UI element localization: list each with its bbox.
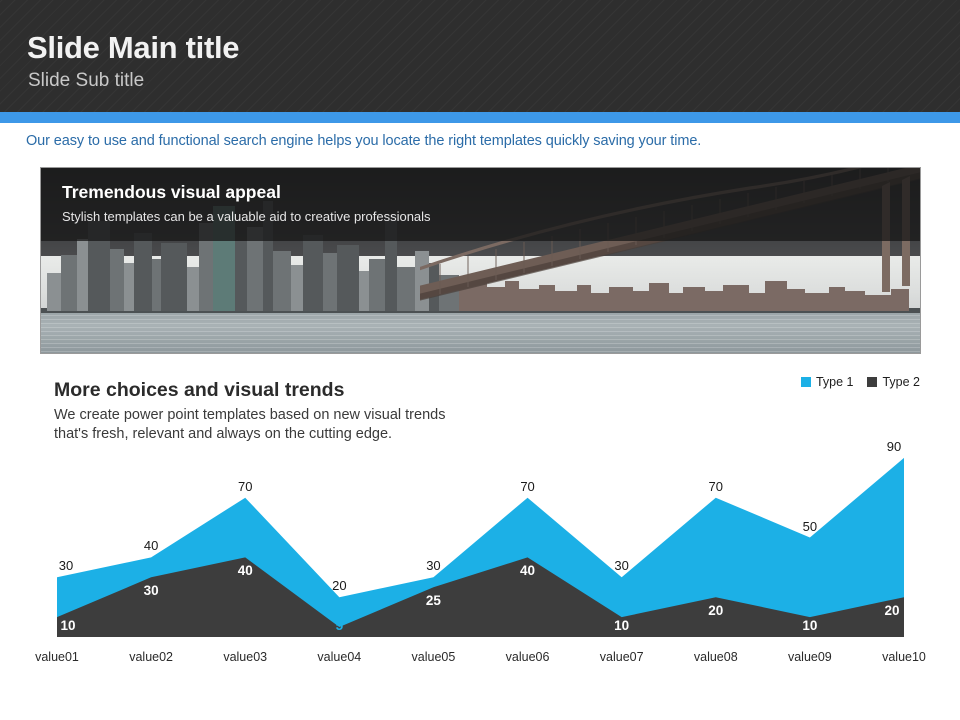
legend-item-type-1[interactable]: Type 1 bbox=[801, 375, 854, 389]
datalabel-type1-value03: 70 bbox=[238, 480, 252, 493]
x-axis-label-value03: value03 bbox=[223, 651, 267, 664]
datalabel-type2-value03: 40 bbox=[238, 564, 253, 578]
chart-title: More choices and visual trends bbox=[54, 381, 344, 401]
datalabel-type2-value05: 25 bbox=[426, 594, 441, 608]
legend-swatch-icon bbox=[867, 377, 877, 387]
x-axis-label-value07: value07 bbox=[600, 651, 644, 664]
slide-root: Slide Main title Slide Sub title Our eas… bbox=[0, 0, 960, 720]
accent-bar bbox=[0, 112, 960, 123]
x-axis-label-value02: value02 bbox=[129, 651, 173, 664]
x-axis-label-value01: value01 bbox=[35, 651, 79, 664]
datalabel-type1-value10: 90 bbox=[887, 440, 901, 453]
datalabel-type1-value04: 20 bbox=[332, 579, 346, 592]
x-axis-label-value05: value05 bbox=[412, 651, 456, 664]
datalabel-type2-value04: 5 bbox=[336, 619, 344, 633]
datalabel-type2-value08: 20 bbox=[708, 604, 723, 618]
photo-caption-subtitle: Stylish templates can be a valuable aid … bbox=[62, 210, 431, 223]
area-chart: 304070203070307050901030405254010201020v… bbox=[0, 420, 960, 680]
photo-caption-title: Tremendous visual appeal bbox=[62, 184, 281, 202]
chart-legend: Type 1Type 2 bbox=[801, 375, 920, 389]
datalabel-type1-value08: 70 bbox=[709, 480, 723, 493]
legend-label: Type 1 bbox=[816, 375, 854, 389]
x-axis-label-value10: value10 bbox=[882, 651, 926, 664]
photo-caption-overlay: Tremendous visual appeal Stylish templat… bbox=[41, 168, 921, 241]
page-subtitle: Slide Sub title bbox=[28, 71, 144, 90]
datalabel-type2-value10: 20 bbox=[884, 604, 899, 618]
x-axis-label-value04: value04 bbox=[317, 651, 361, 664]
legend-label: Type 2 bbox=[882, 375, 920, 389]
x-axis-label-value08: value08 bbox=[694, 651, 738, 664]
x-axis-label-value06: value06 bbox=[506, 651, 550, 664]
datalabel-type1-value02: 40 bbox=[144, 539, 158, 552]
datalabel-type2-value02: 30 bbox=[144, 584, 159, 598]
datalabel-type2-value06: 40 bbox=[520, 564, 535, 578]
datalabel-type1-value09: 50 bbox=[803, 520, 817, 533]
datalabel-type1-value07: 30 bbox=[614, 559, 628, 572]
legend-item-type-2[interactable]: Type 2 bbox=[867, 375, 920, 389]
datalabel-type1-value01: 30 bbox=[59, 559, 73, 572]
datalabel-type2-value07: 10 bbox=[614, 619, 629, 633]
datalabel-type2-value09: 10 bbox=[802, 619, 817, 633]
datalabel-type1-value06: 70 bbox=[520, 480, 534, 493]
page-title: Slide Main title bbox=[27, 32, 239, 63]
intro-text: Our easy to use and functional search en… bbox=[26, 133, 701, 149]
datalabel-type1-value05: 30 bbox=[426, 559, 440, 572]
slide-header: Slide Main title Slide Sub title bbox=[0, 0, 960, 112]
datalabel-type2-value01: 10 bbox=[60, 619, 75, 633]
legend-swatch-icon bbox=[801, 377, 811, 387]
photo-card: Tremendous visual appeal Stylish templat… bbox=[40, 167, 921, 354]
x-axis-label-value09: value09 bbox=[788, 651, 832, 664]
